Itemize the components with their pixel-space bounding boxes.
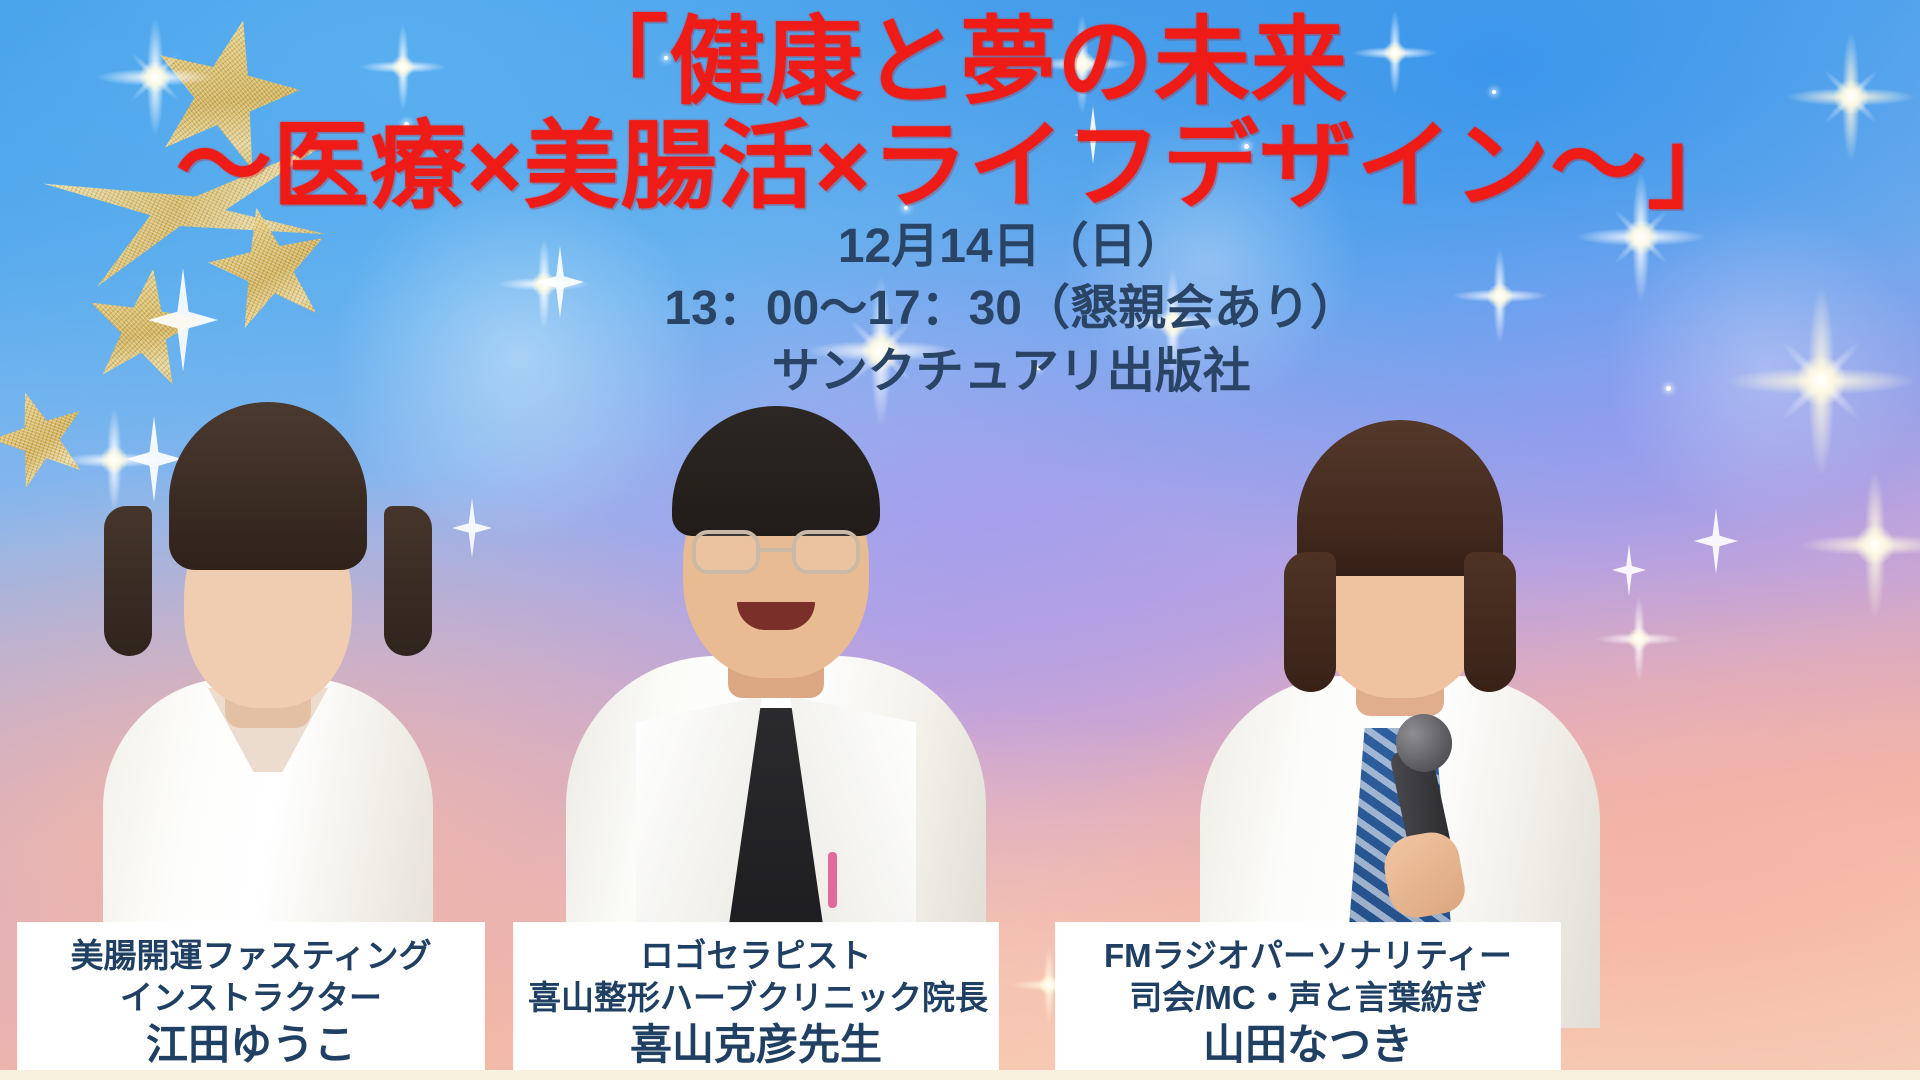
speaker-caption-left: 美腸開運ファスティング インストラクター 江田ゆうこ xyxy=(18,923,484,1080)
speaker-role-line-2: インストラクター xyxy=(32,977,470,1019)
speaker-left-hair xyxy=(169,402,367,570)
speaker-left-hair-side xyxy=(104,506,152,656)
poster-title: 「健康と夢の未来 〜医療×美腸活×ライフデザイン〜」 xyxy=(0,14,1920,216)
event-time: 13：00〜17：30（懇親会あり） xyxy=(664,278,1358,340)
speaker-name: 江田ゆうこ xyxy=(32,1019,470,1072)
bottom-strip xyxy=(0,1070,1920,1080)
speaker-name: 喜山克彦先生 xyxy=(528,1019,984,1072)
speaker-role-line-1: FMラジオパーソナリティー xyxy=(1070,935,1546,977)
speaker-role-line-2: 司会/MC・声と言葉紡ぎ xyxy=(1070,977,1546,1019)
speaker-right-hair-side xyxy=(1284,552,1336,692)
speaker-center-hair xyxy=(672,406,880,536)
speaker-photo-left xyxy=(88,408,448,1008)
speaker-caption-center: ロゴセラピスト 喜山整形ハーブクリニック院長 喜山克彦先生 xyxy=(514,923,998,1080)
event-venue: サンクチュアリ出版社 xyxy=(664,341,1358,403)
event-info: 12月14日（日） 13：00〜17：30（懇親会あり） サンクチュアリ出版社 xyxy=(664,216,1358,403)
title-line-1: 「健康と夢の未来 xyxy=(0,14,1920,112)
event-poster: 「健康と夢の未来 〜医療×美腸活×ライフデザイン〜」 12月14日（日） 13：… xyxy=(0,0,1920,1080)
speaker-role-line-1: 美腸開運ファスティング xyxy=(32,935,470,977)
glasses-icon xyxy=(692,530,860,576)
speaker-right-hair-side xyxy=(1464,552,1516,692)
speaker-role-line-2: 喜山整形ハーブクリニック院長 xyxy=(528,977,984,1019)
speaker-left-hair-side xyxy=(384,506,432,656)
pen-icon xyxy=(828,852,837,908)
speaker-role-line-1: ロゴセラピスト xyxy=(528,935,984,977)
event-date: 12月14日（日） xyxy=(664,216,1358,278)
speaker-caption-right: FMラジオパーソナリティー 司会/MC・声と言葉紡ぎ 山田なつき xyxy=(1056,923,1560,1080)
speaker-name: 山田なつき xyxy=(1070,1019,1546,1072)
sparkle-dot-icon xyxy=(1666,386,1671,391)
title-line-2: 〜医療×美腸活×ライフデザイン〜」 xyxy=(0,118,1920,216)
